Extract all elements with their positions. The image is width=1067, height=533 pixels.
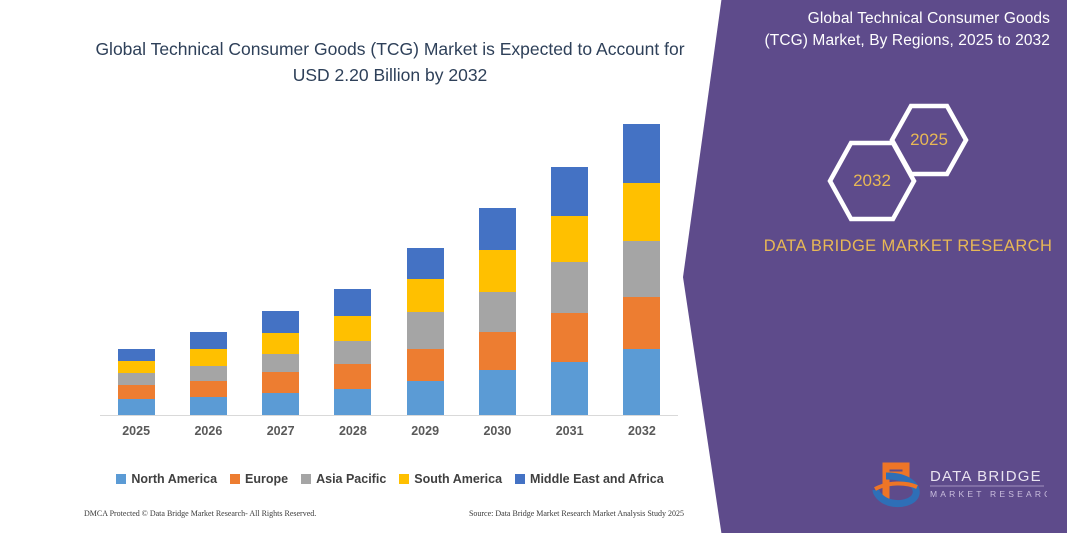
legend-item[interactable]: Europe: [230, 472, 288, 486]
x-axis-label: 2029: [389, 424, 461, 438]
bar-segment: [118, 361, 155, 373]
stacked-bar: [407, 248, 444, 415]
legend-swatch-icon: [230, 474, 240, 484]
stacked-bar: [479, 208, 516, 415]
x-axis-line: [100, 415, 678, 416]
bar-column: [100, 349, 172, 415]
bar-segment: [262, 333, 299, 354]
bar-column: [534, 167, 606, 415]
brand-panel: [683, 0, 1067, 533]
stacked-bar: [623, 124, 660, 415]
bar-column: [172, 332, 244, 415]
legend-swatch-icon: [116, 474, 126, 484]
legend-item[interactable]: North America: [116, 472, 217, 486]
hexagon-end-year-label: 2025: [910, 130, 948, 150]
legend-item[interactable]: Middle East and Africa: [515, 472, 664, 486]
bar-segment: [623, 183, 660, 241]
x-axis-labels: 20252026202720282029203020312032: [100, 424, 678, 438]
bar-segment: [551, 313, 588, 362]
x-axis-label: 2025: [100, 424, 172, 438]
legend-swatch-icon: [301, 474, 311, 484]
legend-item[interactable]: Asia Pacific: [301, 472, 386, 486]
bar-segment: [551, 262, 588, 313]
bar-segment: [334, 341, 371, 364]
stacked-bar: [262, 311, 299, 415]
stacked-bar: [118, 349, 155, 415]
bar-segment: [262, 311, 299, 333]
brand-name: DATA BRIDGE MARKET RESEARCH: [753, 233, 1063, 260]
bar-column: [317, 289, 389, 415]
chart-legend: North AmericaEuropeAsia PacificSouth Ame…: [90, 472, 690, 486]
stacked-bar: [551, 167, 588, 415]
x-axis-label: 2030: [461, 424, 533, 438]
hexagon-badge-end-year: 2025: [888, 103, 970, 177]
bar-segment: [407, 312, 444, 349]
panel-title: Global Technical Consumer Goods (TCG) Ma…: [760, 8, 1050, 52]
bar-segment: [479, 292, 516, 332]
bar-segment: [623, 297, 660, 349]
legend-label: Europe: [245, 472, 288, 486]
footer: DMCA Protected © Data Bridge Market Rese…: [84, 509, 684, 518]
bar-segment: [623, 241, 660, 297]
bar-segment: [262, 393, 299, 415]
legend-label: Asia Pacific: [316, 472, 386, 486]
bar-segment: [118, 373, 155, 384]
bar-segment: [262, 354, 299, 373]
x-axis-label: 2028: [317, 424, 389, 438]
stacked-bar: [334, 289, 371, 415]
x-axis-label: 2027: [245, 424, 317, 438]
bar-segment: [623, 124, 660, 182]
logo-secondary-text: MARKET RESEARCH: [930, 489, 1047, 499]
bar-segment: [479, 208, 516, 251]
legend-label: Middle East and Africa: [530, 472, 664, 486]
infographic-root: Global Technical Consumer Goods (TCG) Ma…: [0, 0, 1067, 533]
legend-swatch-icon: [515, 474, 525, 484]
legend-swatch-icon: [399, 474, 409, 484]
x-axis-label: 2031: [534, 424, 606, 438]
stacked-bar-series: [100, 120, 678, 415]
bar-segment: [334, 289, 371, 316]
bar-segment: [479, 370, 516, 415]
x-axis-label: 2026: [172, 424, 244, 438]
bar-segment: [623, 349, 660, 415]
bar-segment: [551, 362, 588, 415]
x-axis-label: 2032: [606, 424, 678, 438]
bar-segment: [407, 381, 444, 415]
bar-segment: [407, 349, 444, 380]
legend-label: North America: [131, 472, 217, 486]
bar-segment: [190, 349, 227, 366]
bar-segment: [334, 316, 371, 341]
bar-segment: [190, 397, 227, 415]
bar-segment: [551, 167, 588, 216]
chart-plot-area: [100, 120, 678, 416]
bar-segment: [407, 248, 444, 278]
chart-title: Global Technical Consumer Goods (TCG) Ma…: [90, 36, 690, 88]
company-logo: DATA BRIDGE MARKET RESEARCH: [872, 460, 1047, 515]
bar-column: [461, 208, 533, 415]
stacked-bar: [190, 332, 227, 415]
logo-primary-text: DATA BRIDGE: [930, 468, 1042, 485]
bar-segment: [118, 349, 155, 360]
bar-segment: [190, 381, 227, 398]
bar-segment: [479, 332, 516, 371]
bar-segment: [334, 364, 371, 389]
bar-segment: [407, 279, 444, 312]
legend-label: South America: [414, 472, 502, 486]
bar-segment: [190, 366, 227, 381]
bar-segment: [551, 216, 588, 262]
bar-column: [245, 311, 317, 415]
bar-column: [389, 248, 461, 415]
legend-item[interactable]: South America: [399, 472, 502, 486]
bar-segment: [118, 399, 155, 415]
bar-segment: [262, 372, 299, 393]
bar-segment: [118, 385, 155, 400]
bar-column: [606, 124, 678, 415]
bar-segment: [190, 332, 227, 350]
bar-segment: [334, 389, 371, 415]
footer-source: Source: Data Bridge Market Research Mark…: [469, 509, 684, 518]
hexagon-start-year-label: 2032: [853, 171, 891, 191]
logo-monogram-icon: [875, 466, 917, 504]
bar-segment: [479, 250, 516, 292]
footer-copyright: DMCA Protected © Data Bridge Market Rese…: [84, 509, 316, 518]
